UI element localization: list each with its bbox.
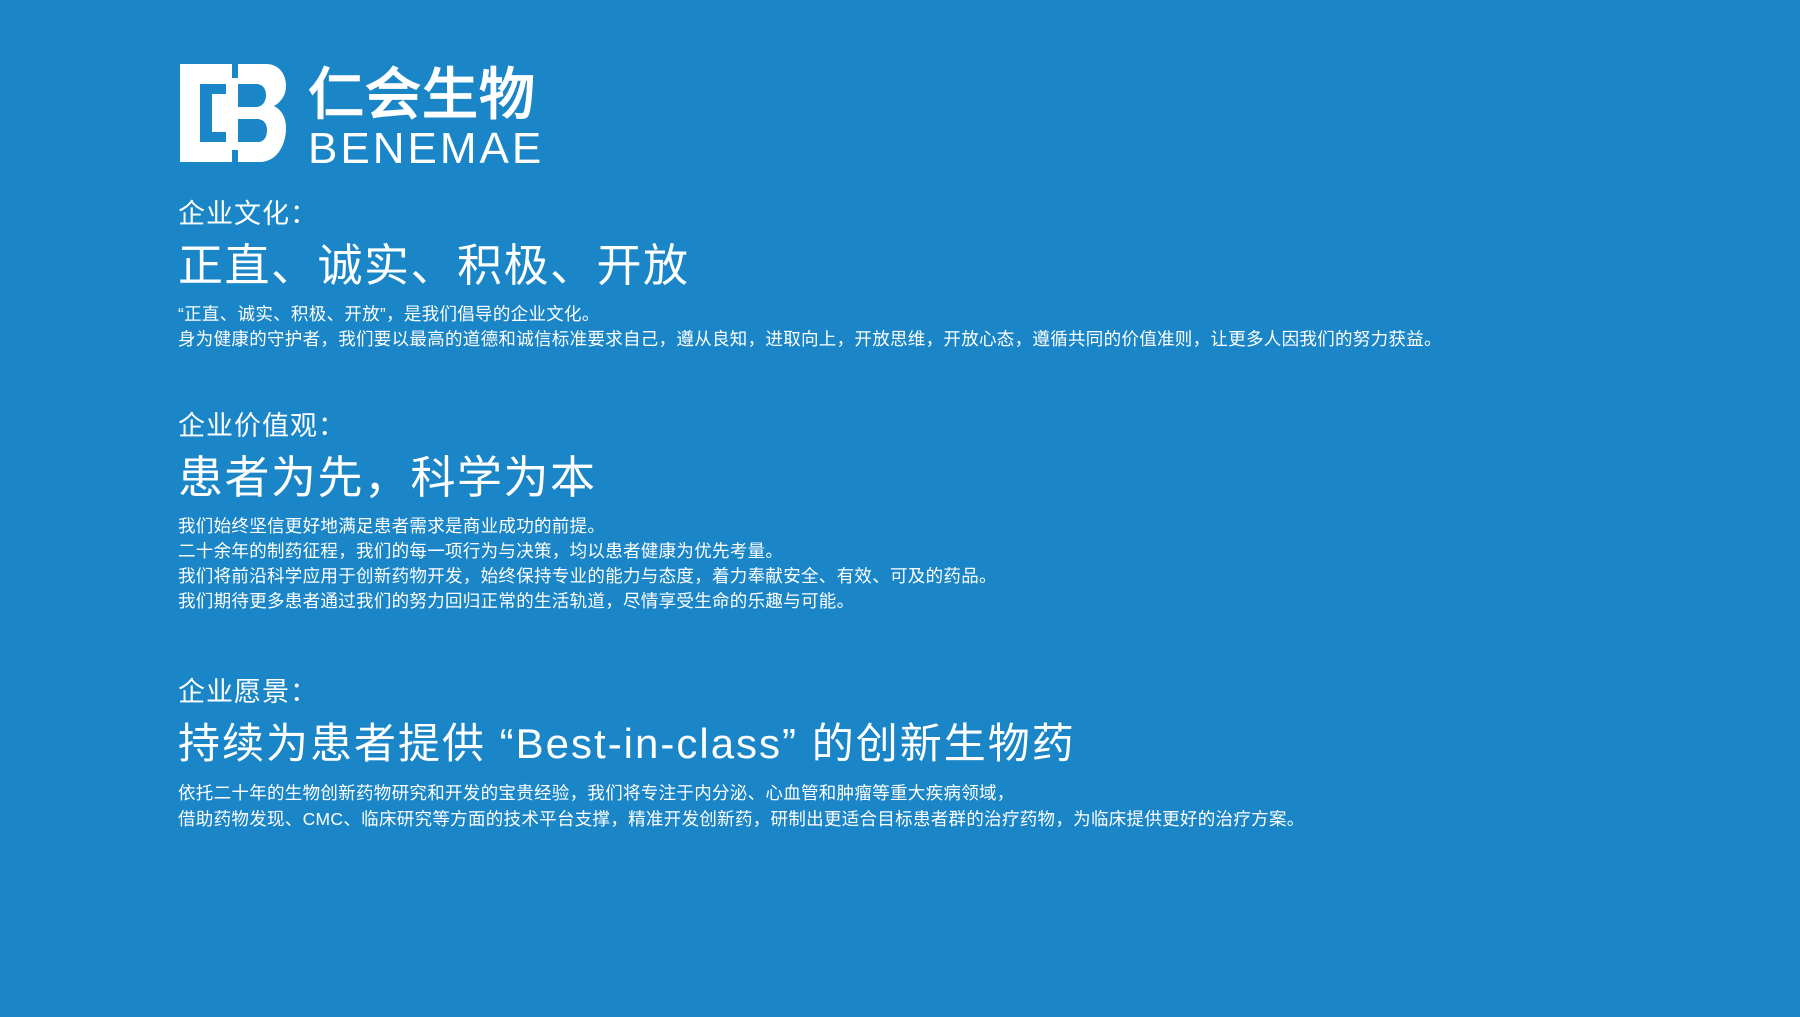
section-culture: 企业文化： 正直、诚实、积极、开放 “正直、诚实、积极、开放”，是我们倡导的企业…: [178, 196, 1740, 352]
logo-company-name-cn: 仁会生物: [308, 66, 544, 124]
section-vision-title: 持续为患者提供 “Best-in-class” 的创新生物药: [178, 716, 1740, 772]
section-culture-label: 企业文化：: [178, 196, 1740, 232]
body-line: 我们期待更多患者通过我们的努力回归正常的生活轨道，尽情享受生命的乐趣与可能。: [178, 589, 1740, 614]
logo-company-name-en: BENEMAE: [308, 126, 544, 172]
body-line: 二十余年的制药征程，我们的每一项行为与决策，均以患者健康为优先考量。: [178, 539, 1740, 564]
benemae-logo-mark-icon: [180, 64, 286, 162]
section-vision: 企业愿景： 持续为患者提供 “Best-in-class” 的创新生物药 依托二…: [178, 674, 1740, 832]
section-culture-body: “正直、诚实、积极、开放”，是我们倡导的企业文化。 身为健康的守护者，我们要以最…: [178, 302, 1740, 352]
section-values-label: 企业价值观：: [178, 408, 1740, 444]
section-values-body: 我们始终坚信更好地满足患者需求是商业成功的前提。 二十余年的制药征程，我们的每一…: [178, 514, 1740, 614]
section-values-title: 患者为先，科学为本: [178, 450, 1740, 506]
body-line: “正直、诚实、积极、开放”，是我们倡导的企业文化。: [178, 302, 1740, 327]
company-logo: 仁会生物 BENEMAE: [180, 64, 544, 172]
body-line: 我们将前沿科学应用于创新药物开发，始终保持专业的能力与态度，着力奉献安全、有效、…: [178, 564, 1740, 589]
body-line: 我们始终坚信更好地满足患者需求是商业成功的前提。: [178, 514, 1740, 539]
section-vision-body: 依托二十年的生物创新药物研究和开发的宝贵经验，我们将专注于内分泌、心血管和肿瘤等…: [178, 780, 1740, 832]
body-line: 身为健康的守护者，我们要以最高的道德和诚信标准要求自己，遵从良知，进取向上，开放…: [178, 327, 1740, 352]
section-vision-label: 企业愿景：: [178, 674, 1740, 710]
section-values: 企业价值观： 患者为先，科学为本 我们始终坚信更好地满足患者需求是商业成功的前提…: [178, 408, 1740, 614]
body-line: 借助药物发现、CMC、临床研究等方面的技术平台支撑，精准开发创新药，研制出更适合…: [178, 806, 1740, 832]
content-area: 企业文化： 正直、诚实、积极、开放 “正直、诚实、积极、开放”，是我们倡导的企业…: [178, 196, 1740, 832]
slide-root: 仁会生物 BENEMAE 企业文化： 正直、诚实、积极、开放 “正直、诚实、积极…: [0, 0, 1800, 1017]
logo-wordmark: 仁会生物 BENEMAE: [308, 64, 544, 172]
body-line: 依托二十年的生物创新药物研究和开发的宝贵经验，我们将专注于内分泌、心血管和肿瘤等…: [178, 780, 1740, 806]
section-culture-title: 正直、诚实、积极、开放: [178, 238, 1740, 294]
